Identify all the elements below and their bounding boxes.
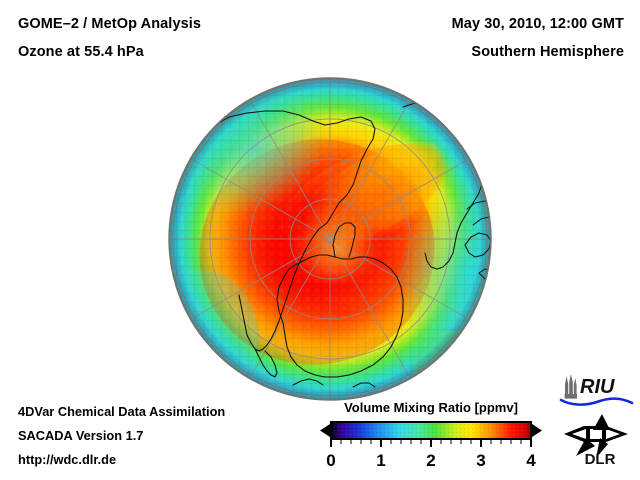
riu-wordmark: RIU — [580, 376, 615, 398]
colorbar-tick-2: 2 — [426, 451, 435, 470]
dlr-logo: DLR — [562, 412, 634, 468]
riu-logo: RIU — [558, 372, 634, 410]
page-title: GOME–2 / MetOp Analysis — [18, 16, 201, 32]
hemisphere-label: Southern Hemisphere — [471, 44, 624, 60]
colorbar-tick-3: 3 — [476, 451, 485, 470]
south-pole-marker — [328, 237, 332, 241]
dlr-wordmark: DLR — [585, 451, 616, 468]
page-subtitle: Ozone at 55.4 hPa — [18, 44, 144, 60]
cathedral-spires-icon — [565, 374, 577, 399]
colorbar-tick-0: 0 — [326, 451, 335, 470]
colorbar-tick-1: 1 — [376, 451, 385, 470]
ozone-globe-map — [167, 77, 493, 401]
analysis-timestamp: May 30, 2010, 12:00 GMT — [452, 16, 624, 32]
colorbar-tick-4: 4 — [526, 451, 536, 470]
ozone-analysis-figure: GOME–2 / MetOp Analysis Ozone at 55.4 hP… — [0, 0, 640, 480]
colorbar: Volume Mixing Ratio [ppmv] — [318, 400, 544, 474]
colorbar-label: Volume Mixing Ratio [ppmv] — [318, 400, 544, 415]
orthographic-projection — [167, 77, 493, 401]
riu-wave-icon — [561, 399, 632, 405]
footer-url: http://wdc.dlr.de — [18, 452, 116, 467]
colorbar-scale: 0 1 2 3 4 — [318, 418, 544, 474]
footer-version: SACADA Version 1.7 — [18, 428, 143, 443]
footer-method: 4DVar Chemical Data Assimilation — [18, 404, 225, 419]
colorbar-tick-labels: 0 1 2 3 4 — [326, 451, 536, 470]
